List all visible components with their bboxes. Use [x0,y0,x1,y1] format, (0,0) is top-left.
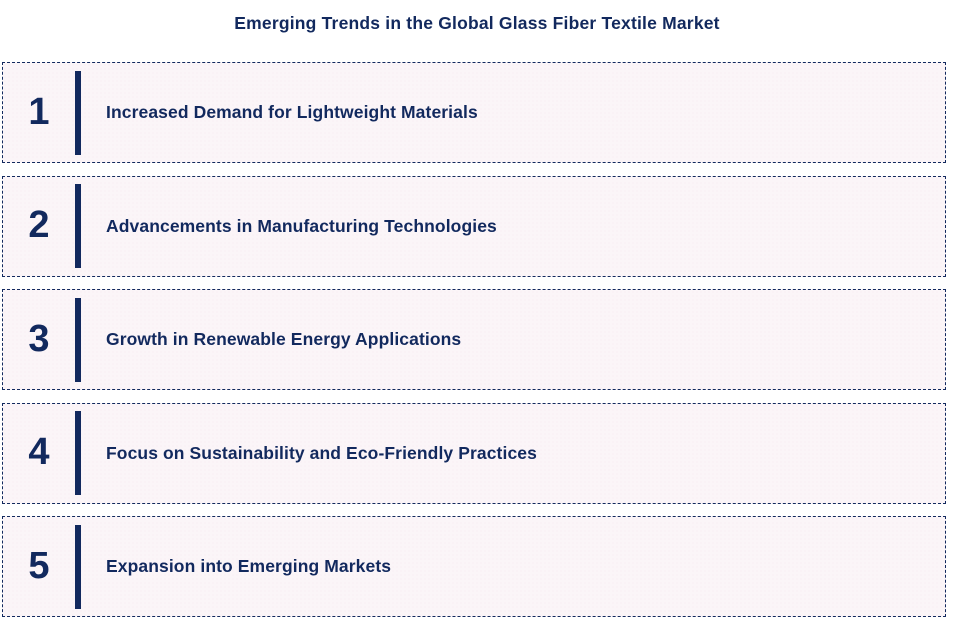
trend-number: 3 [3,320,75,360]
trend-card: 5 Expansion into Emerging Markets [2,516,946,617]
trend-label: Focus on Sustainability and Eco-Friendly… [81,443,945,464]
trend-label: Increased Demand for Lightweight Materia… [81,102,945,123]
trend-number: 5 [3,547,75,587]
infographic-page: Emerging Trends in the Global Glass Fibe… [0,0,954,632]
trend-label: Growth in Renewable Energy Applications [81,329,945,350]
trend-label: Advancements in Manufacturing Technologi… [81,216,945,237]
trend-card: 3 Growth in Renewable Energy Application… [2,289,946,390]
trend-card: 4 Focus on Sustainability and Eco-Friend… [2,403,946,504]
page-title: Emerging Trends in the Global Glass Fibe… [0,13,954,34]
trend-card: 1 Increased Demand for Lightweight Mater… [2,62,946,163]
trend-number: 1 [3,93,75,133]
trend-label: Expansion into Emerging Markets [81,556,945,577]
trend-number: 4 [3,433,75,473]
trend-list: 1 Increased Demand for Lightweight Mater… [2,62,946,617]
trend-card: 2 Advancements in Manufacturing Technolo… [2,176,946,277]
trend-number: 2 [3,206,75,246]
